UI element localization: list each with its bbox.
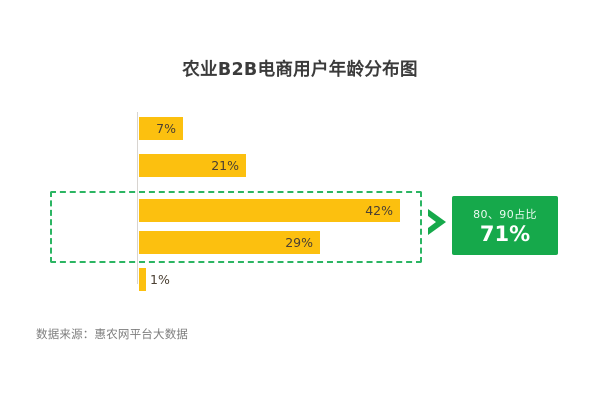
- bar-segment: 7%: [139, 117, 183, 140]
- bar-value-label: 21%: [211, 154, 239, 177]
- bar-segment: 21%: [139, 154, 246, 177]
- callout-value: 71%: [480, 224, 530, 245]
- bar-segment: 1%: [139, 268, 146, 291]
- arrow-right-icon: [424, 207, 450, 237]
- bar-value-label: 1%: [150, 268, 170, 291]
- bar-value-label: 7%: [156, 117, 176, 140]
- highlight-selection-box: [50, 191, 422, 263]
- callout-summary-box: 80、90占比 71%: [452, 196, 558, 255]
- plot-area: &gt;50岁 7% 40-50岁 21% 30-40岁 42%: [0, 0, 600, 420]
- data-source-note: 数据来源：惠农网平台大数据: [36, 326, 188, 342]
- callout-caption: 80、90占比: [473, 206, 537, 222]
- chart-container: 农业B2B电商用户年龄分布图 &gt;50岁 7% 40-50岁 21% 30-…: [0, 0, 600, 420]
